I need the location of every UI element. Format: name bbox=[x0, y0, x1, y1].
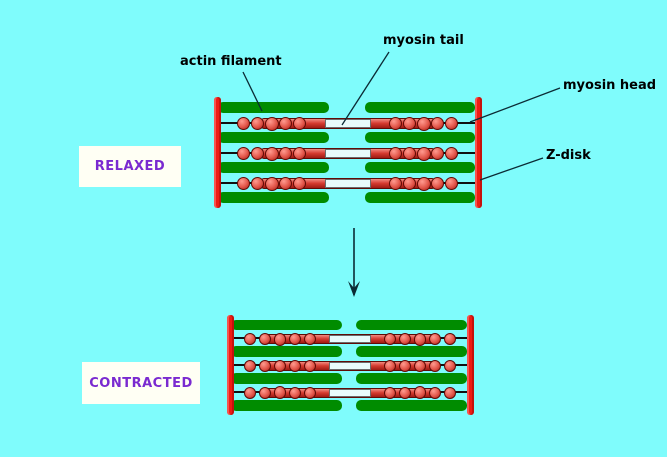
myosin-head bbox=[265, 177, 279, 191]
z-disk-leader bbox=[480, 158, 543, 180]
myosin-head bbox=[237, 177, 250, 190]
myosin-head bbox=[304, 387, 316, 399]
myosin-head bbox=[417, 177, 431, 191]
label-actin-filament: actin filament bbox=[180, 54, 282, 69]
z-disk-right bbox=[467, 315, 474, 415]
z-disk-left bbox=[227, 315, 234, 415]
sarcomere-relaxed bbox=[211, 100, 482, 205]
label-myosin-tail: myosin tail bbox=[383, 33, 464, 48]
h-zone bbox=[325, 179, 371, 187]
myosin-filament-row bbox=[211, 100, 482, 205]
arrow-head-icon bbox=[348, 281, 360, 297]
myosin-head-leader bbox=[470, 88, 560, 122]
h-zone bbox=[329, 389, 371, 397]
diagram-canvas: actin filament myosin tail myosin head Z… bbox=[0, 0, 667, 457]
contraction-arrow bbox=[348, 228, 360, 297]
label-myosin-head: myosin head bbox=[563, 78, 656, 93]
myosin-filament-row bbox=[224, 318, 474, 412]
myosin-head bbox=[445, 177, 458, 190]
myosin-head bbox=[429, 387, 441, 399]
myosin-head bbox=[444, 387, 456, 399]
z-disk-right bbox=[475, 97, 482, 208]
sarcomere-contracted bbox=[224, 318, 474, 412]
state-box-relaxed: RELAXED bbox=[79, 146, 181, 187]
label-z-disk: Z-disk bbox=[546, 148, 591, 163]
z-disk-left bbox=[214, 97, 221, 208]
myosin-head bbox=[244, 387, 256, 399]
myosin-head bbox=[384, 387, 396, 399]
myosin-head bbox=[431, 177, 445, 191]
state-box-contracted: CONTRACTED bbox=[82, 362, 200, 404]
